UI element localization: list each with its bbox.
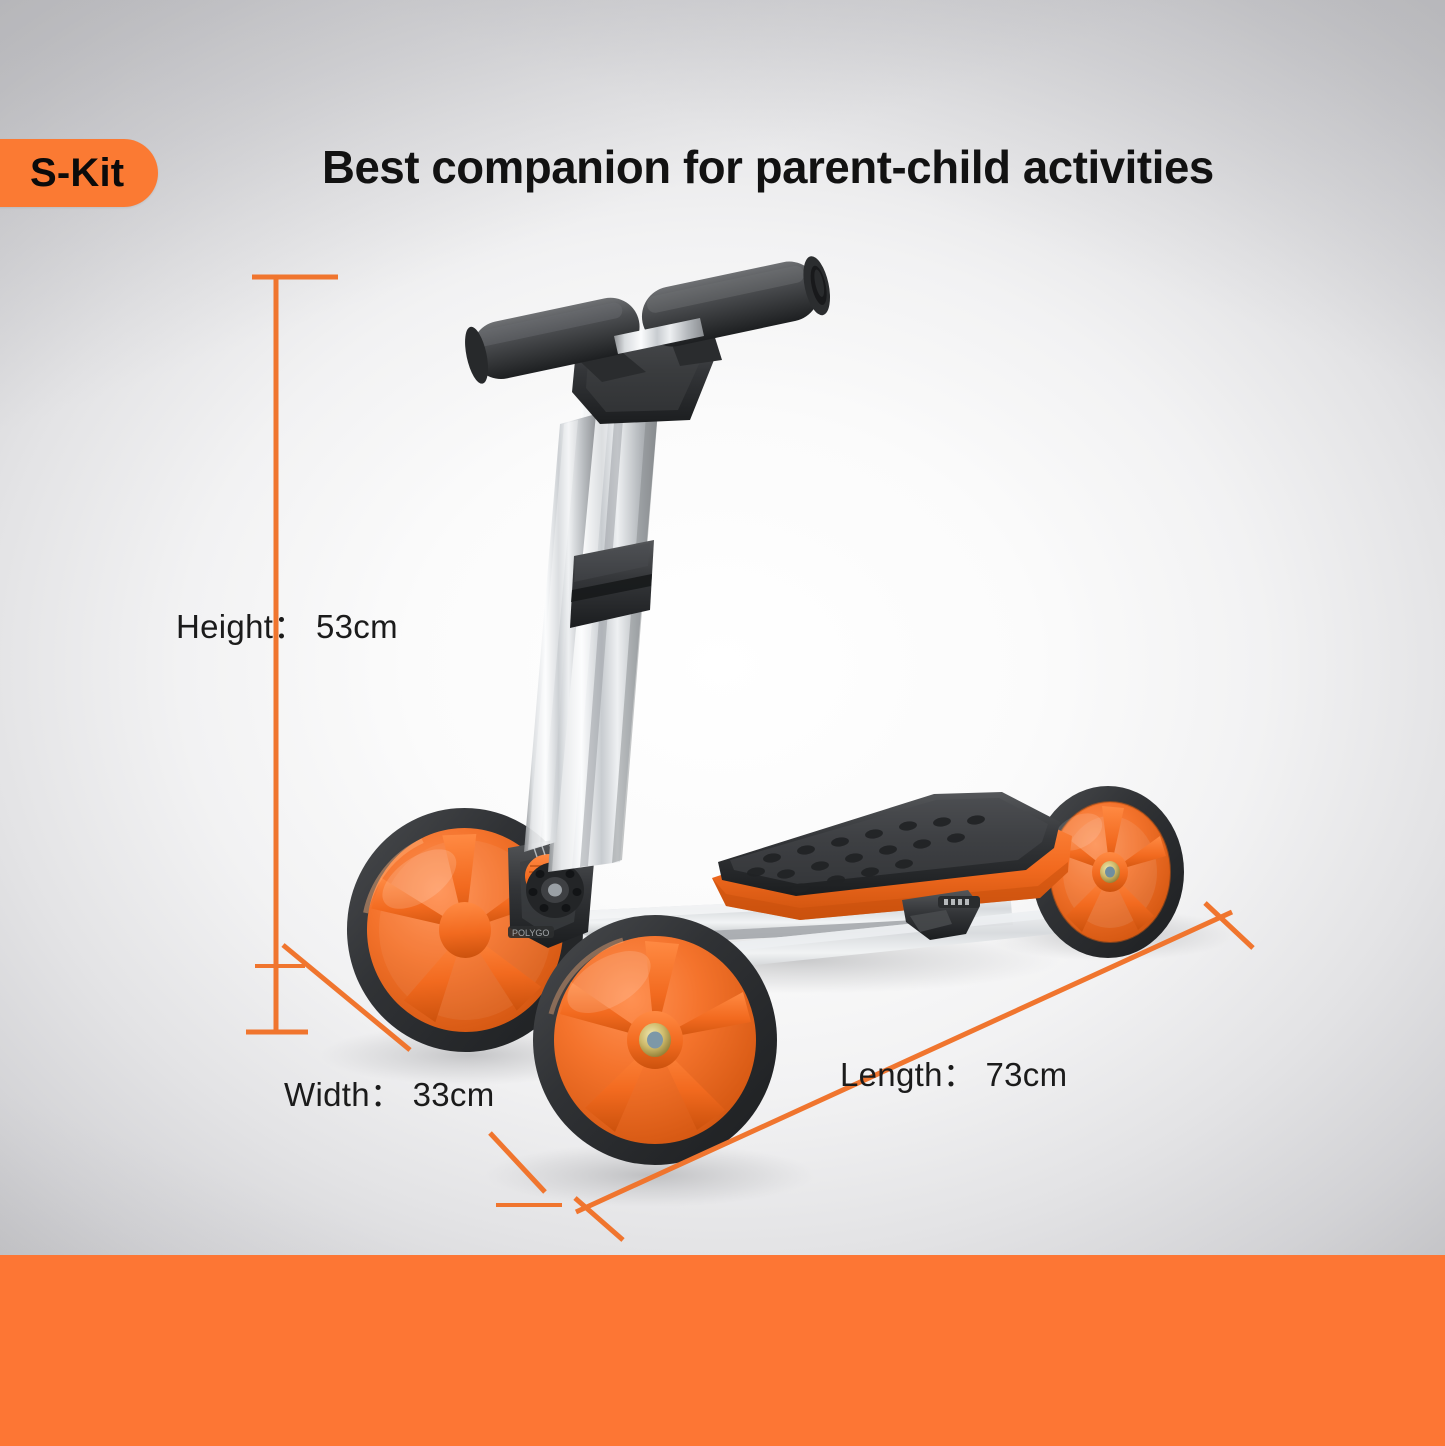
height-dimension-line <box>246 277 338 1032</box>
dimension-label-height: Height： 53cm <box>176 600 398 648</box>
dimension-annotations <box>0 0 1445 1446</box>
dimension-label-length: Length： 73cm <box>840 1048 1067 1096</box>
product-badge-label: S-Kit <box>30 151 124 196</box>
footer-bar <box>0 1255 1445 1446</box>
infographic-canvas: POLYGO <box>0 0 1445 1446</box>
page-title: Best companion for parent-child activiti… <box>322 140 1214 194</box>
dimension-label-width: Width： 33cm <box>284 1068 495 1116</box>
product-badge: S-Kit <box>0 139 158 207</box>
